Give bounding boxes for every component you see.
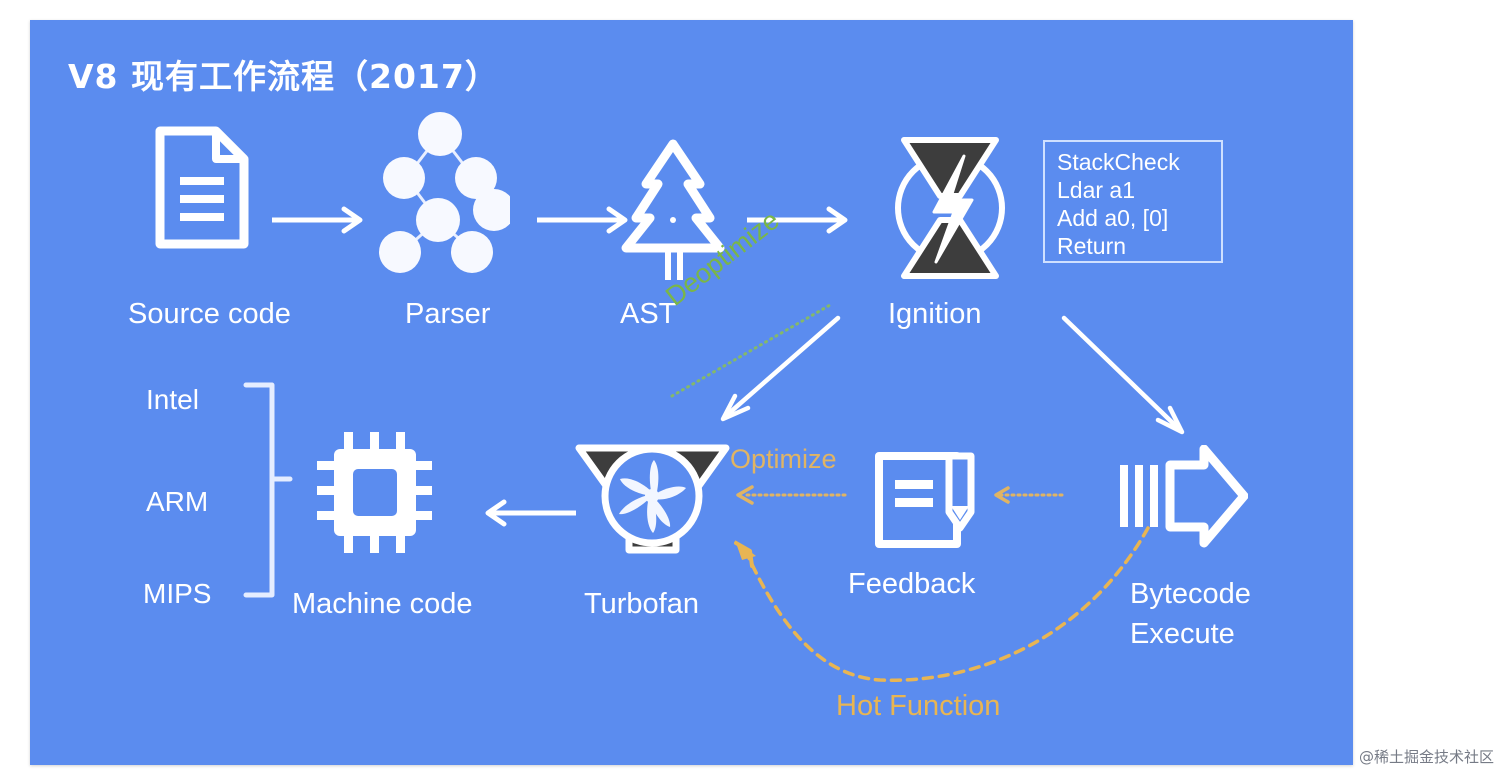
page-title: V8 现有工作流程（2017）: [68, 50, 499, 98]
cpu-chip-icon: [315, 430, 435, 560]
turbofan-icon: [575, 438, 730, 565]
bytecode-listing-box: StackCheck Ldar a1 Add a0, [0] Return: [1043, 140, 1223, 263]
label-bytecode-execute-line1: Bytecode: [1130, 578, 1251, 611]
arch-label-arm: ARM: [146, 486, 208, 518]
arch-label-intel: Intel: [146, 384, 199, 416]
architecture-brace-icon: [238, 375, 298, 610]
fast-forward-arrow-icon: [1118, 445, 1248, 555]
edge-label-hot-function: Hot Function: [836, 690, 1000, 723]
label-source-code: Source code: [128, 298, 291, 331]
bytecode-line: Ldar a1: [1057, 176, 1221, 204]
watermark: @稀土掘金技术社区: [1359, 746, 1494, 767]
arrow-source-to-parser-icon: [270, 205, 370, 240]
edge-label-optimize: Optimize: [730, 444, 837, 475]
bytecode-line: Return: [1057, 232, 1221, 260]
label-ast: AST: [620, 298, 676, 331]
label-turbofan: Turbofan: [584, 588, 699, 621]
arch-label-mips: MIPS: [143, 578, 211, 610]
arrow-turbofan-to-machine-code-icon: [470, 498, 580, 533]
slide-panel: V8 现有工作流程（2017）: [30, 20, 1353, 765]
bytecode-line: StackCheck: [1057, 148, 1221, 176]
note-pencil-icon: [873, 450, 983, 555]
label-feedback: Feedback: [848, 568, 975, 601]
hourglass-lightning-icon: [890, 130, 1010, 290]
label-parser: Parser: [405, 298, 490, 331]
bytecode-line: Add a0, [0]: [1057, 204, 1221, 232]
label-bytecode-execute-line2: Execute: [1130, 618, 1235, 651]
label-ignition: Ignition: [888, 298, 982, 331]
document-icon: [152, 125, 252, 255]
tree-graph-icon: [370, 110, 510, 280]
diagram-stage: V8 现有工作流程（2017）: [0, 0, 1512, 777]
label-machine-code: Machine code: [292, 588, 473, 621]
